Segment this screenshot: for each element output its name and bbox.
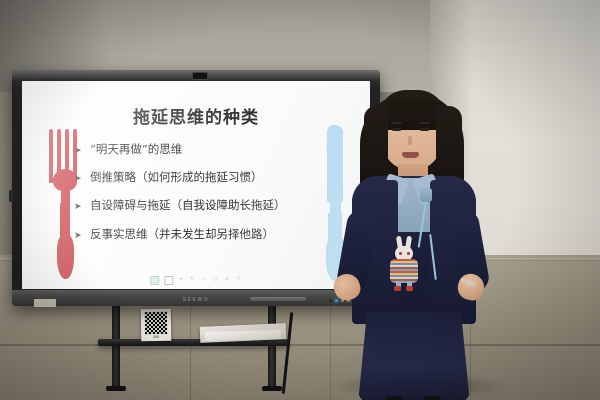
eraser-icon[interactable]: ◇ (200, 277, 207, 284)
leg-left (384, 396, 404, 400)
list-item-label: 倒推策略（如何形成的拖延习惯） (90, 171, 263, 184)
presenter (336, 84, 496, 400)
badge (420, 188, 432, 202)
qr-code-icon (145, 312, 167, 334)
bullet-arrow-icon: ➤ (74, 231, 90, 241)
stand-foot-left (106, 386, 126, 391)
ir-sensor-strip (250, 297, 306, 301)
list-item: ➤ 自设障碍与拖延（自我设障助长拖延） (74, 199, 326, 212)
text-icon[interactable]: T (235, 277, 242, 284)
bullet-arrow-icon: ➤ (74, 146, 90, 156)
panel-side-button[interactable] (9, 190, 13, 202)
skirt (358, 312, 470, 400)
nose (408, 136, 412, 145)
eyebrow-left (391, 122, 402, 124)
eyebrow-right (419, 122, 430, 124)
mouth (402, 152, 419, 158)
eye-right (420, 128, 429, 131)
slide-screen[interactable]: 拖延思维的种类 ➤ “明天再做”的思维 ➤ 倒推策略（如何形成的拖延习惯） ➤ … (22, 81, 370, 289)
list-item-label: “明天再做”的思维 (90, 143, 182, 156)
list-item-label: 自设障碍与拖延（自我设障助长拖延） (90, 199, 286, 212)
camera-icon (192, 72, 208, 80)
rabbit-graphic-icon (388, 236, 420, 290)
eye-left (392, 128, 401, 131)
leg-right (422, 396, 442, 400)
panel-asset-label (34, 299, 56, 307)
slide-bullet-list: ➤ “明天再做”的思维 ➤ 倒推策略（如何形成的拖延习惯） ➤ 自设障碍与拖延（… (74, 143, 326, 256)
stand-leg-right (268, 306, 276, 390)
list-item: ➤ “明天再做”的思维 (74, 143, 326, 156)
qr-card-caption: 扫码 (141, 335, 171, 340)
cursor-icon[interactable]: ➔ (177, 277, 184, 284)
list-item-label: 反事实思维（并未发生却另择他路） (90, 228, 274, 241)
slide-title: 拖延思维的种类 (22, 103, 370, 128)
annotation-toolbar[interactable]: ➔ ✎ ◇ ○ ↺ T (150, 276, 242, 285)
bullet-arrow-icon: ➤ (74, 202, 90, 212)
panel-button[interactable] (329, 299, 333, 303)
list-item: ➤ 倒推策略（如何形成的拖延习惯） (74, 171, 326, 184)
page-icon[interactable] (164, 276, 173, 285)
annotate-icon[interactable] (150, 276, 159, 285)
undo-icon[interactable]: ↺ (223, 277, 230, 284)
hair-fringe (380, 102, 444, 120)
floor-line (0, 344, 600, 346)
bullet-arrow-icon: ➤ (74, 174, 90, 184)
lecture-room-scene: 扫码 拖延思维的种类 (0, 0, 600, 400)
pen-icon[interactable]: ✎ (189, 277, 196, 284)
interactive-flat-panel[interactable]: 拖延思维的种类 ➤ “明天再做”的思维 ➤ 倒推策略（如何形成的拖延习惯） ➤ … (12, 70, 380, 306)
shape-icon[interactable]: ○ (212, 277, 219, 284)
stand-leg-left (112, 306, 120, 390)
panel-bottom-bezel: SEEWO (12, 290, 380, 306)
stand-foot-right (262, 386, 282, 391)
panel-brand-label: SEEWO (12, 297, 380, 303)
qr-code-card: 扫码 (141, 309, 172, 342)
list-item: ➤ 反事实思维（并未发生却另择他路） (74, 228, 326, 241)
